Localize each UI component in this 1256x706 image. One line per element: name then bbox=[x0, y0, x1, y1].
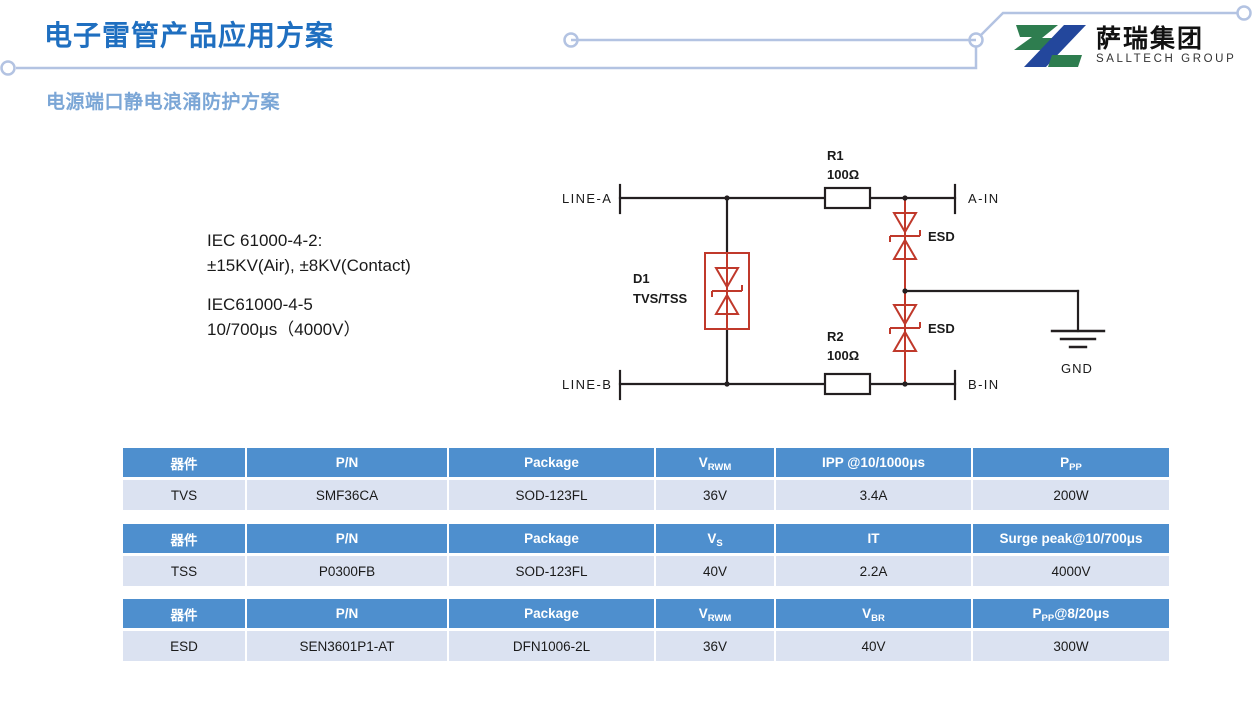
deco-circle-corner bbox=[970, 34, 983, 47]
logo-chinese-name: 萨瑞集团 bbox=[1096, 27, 1236, 52]
label-esd-top: ESD bbox=[928, 229, 955, 244]
circuit-diagram: LINE-A LINE-B A-IN B-IN GND D1 TVS/TSS R… bbox=[540, 135, 1140, 425]
col-header-package: Package bbox=[448, 524, 655, 555]
col-header-pn: P/N bbox=[246, 448, 448, 479]
label-d1-type: TVS/TSS bbox=[633, 291, 688, 306]
cell-surge-peak: 4000V bbox=[972, 555, 1169, 587]
label-esd-bottom: ESD bbox=[928, 321, 955, 336]
page-subtitle: 电源端口静电浪涌防护方案 bbox=[46, 87, 280, 114]
col-header-package: Package bbox=[448, 599, 655, 630]
junction-a-in bbox=[902, 195, 907, 200]
label-b-in: B-IN bbox=[968, 377, 1000, 392]
table-row: ESD SEN3601P1-AT DFN1006-2L 36V 40V 300W bbox=[123, 630, 1169, 662]
col-header-device: 器件 bbox=[123, 524, 246, 555]
col-header-device: 器件 bbox=[123, 599, 246, 630]
cell-ppp: 200W bbox=[972, 479, 1169, 511]
col-header-vrwm: VRWM bbox=[655, 448, 775, 479]
col-header-pn: P/N bbox=[246, 524, 448, 555]
label-gnd: GND bbox=[1061, 361, 1093, 376]
deco-circle-right bbox=[1238, 7, 1251, 20]
table-header-row: 器件 P/N Package VRWM VBR PPP@8/20μs bbox=[123, 599, 1169, 630]
resistor-r1-body bbox=[825, 188, 870, 208]
tvs-device-d1 bbox=[705, 253, 749, 329]
col-header-pn: P/N bbox=[246, 599, 448, 630]
spec-table-esd: 器件 P/N Package VRWM VBR PPP@8/20μs ESD S… bbox=[123, 599, 1169, 661]
junction-a bbox=[724, 195, 729, 200]
label-r2: R2 bbox=[827, 329, 844, 344]
col-header-it: IT bbox=[775, 524, 972, 555]
cell-package: SOD-123FL bbox=[448, 479, 655, 511]
iec-line-1: IEC 61000-4-2: bbox=[207, 228, 411, 253]
logo-english-name: SALLTECH GROUP bbox=[1096, 54, 1236, 66]
label-r1: R1 bbox=[827, 148, 844, 163]
iec-spec-note: IEC 61000-4-2: ±15KV(Air), ±8KV(Contact)… bbox=[207, 228, 411, 342]
cell-device: TVS bbox=[123, 479, 246, 511]
spacer bbox=[207, 278, 411, 292]
junction-b bbox=[724, 381, 729, 386]
label-r2-value: 100Ω bbox=[827, 348, 859, 363]
iec-line-3: IEC61000-4-5 bbox=[207, 292, 411, 317]
table-header-row: 器件 P/N Package VRWM IPP @10/1000μs PPP bbox=[123, 448, 1169, 479]
cell-pn: SMF36CA bbox=[246, 479, 448, 511]
col-header-ipp: IPP @10/1000μs bbox=[775, 448, 972, 479]
deco-circle-mid bbox=[565, 34, 578, 47]
cell-pn: SEN3601P1-AT bbox=[246, 630, 448, 662]
cell-vs: 40V bbox=[655, 555, 775, 587]
col-header-surge-peak: Surge peak@10/700μs bbox=[972, 524, 1169, 555]
junction-b-in bbox=[902, 381, 907, 386]
gnd-symbol bbox=[1052, 331, 1104, 347]
esd-device-bottom bbox=[890, 291, 920, 384]
table-row: TVS SMF36CA SOD-123FL 36V 3.4A 200W bbox=[123, 479, 1169, 511]
cell-vrwm: 36V bbox=[655, 479, 775, 511]
col-header-vs: VS bbox=[655, 524, 775, 555]
cell-device: TSS bbox=[123, 555, 246, 587]
col-header-ppp: PPP bbox=[972, 448, 1169, 479]
iec-line-4: 10/700μs（4000V） bbox=[207, 317, 411, 342]
table-header-row: 器件 P/N Package VS IT Surge peak@10/700μs bbox=[123, 524, 1169, 555]
col-header-device: 器件 bbox=[123, 448, 246, 479]
salltech-logo-mark bbox=[1012, 23, 1088, 69]
table-row: TSS P0300FB SOD-123FL 40V 2.2A 4000V bbox=[123, 555, 1169, 587]
cell-vrwm: 36V bbox=[655, 630, 775, 662]
spec-table-tss: 器件 P/N Package VS IT Surge peak@10/700μs… bbox=[123, 524, 1169, 586]
cell-device: ESD bbox=[123, 630, 246, 662]
col-header-vrwm: VRWM bbox=[655, 599, 775, 630]
deco-circle-left bbox=[2, 62, 15, 75]
cell-it: 2.2A bbox=[775, 555, 972, 587]
esd-device-top bbox=[890, 198, 920, 291]
label-a-in: A-IN bbox=[968, 191, 1000, 206]
cell-ipp: 3.4A bbox=[775, 479, 972, 511]
col-header-ppp-8-20: PPP@8/20μs bbox=[972, 599, 1169, 630]
label-r1-value: 100Ω bbox=[827, 167, 859, 182]
page-title: 电子雷管产品应用方案 bbox=[44, 14, 334, 54]
cell-ppp-8-20: 300W bbox=[972, 630, 1169, 662]
spec-table-tvs: 器件 P/N Package VRWM IPP @10/1000μs PPP T… bbox=[123, 448, 1169, 510]
resistor-r2-body bbox=[825, 374, 870, 394]
iec-line-2: ±15KV(Air), ±8KV(Contact) bbox=[207, 253, 411, 278]
cell-pn: P0300FB bbox=[246, 555, 448, 587]
cell-package: SOD-123FL bbox=[448, 555, 655, 587]
junction-mid bbox=[902, 288, 907, 293]
label-line-a: LINE-A bbox=[562, 191, 612, 206]
cell-vbr: 40V bbox=[775, 630, 972, 662]
company-logo: 萨瑞集团 SALLTECH GROUP bbox=[1012, 22, 1248, 70]
col-header-package: Package bbox=[448, 448, 655, 479]
cell-package: DFN1006-2L bbox=[448, 630, 655, 662]
label-d1: D1 bbox=[633, 271, 650, 286]
col-header-vbr: VBR bbox=[775, 599, 972, 630]
label-line-b: LINE-B bbox=[562, 377, 612, 392]
